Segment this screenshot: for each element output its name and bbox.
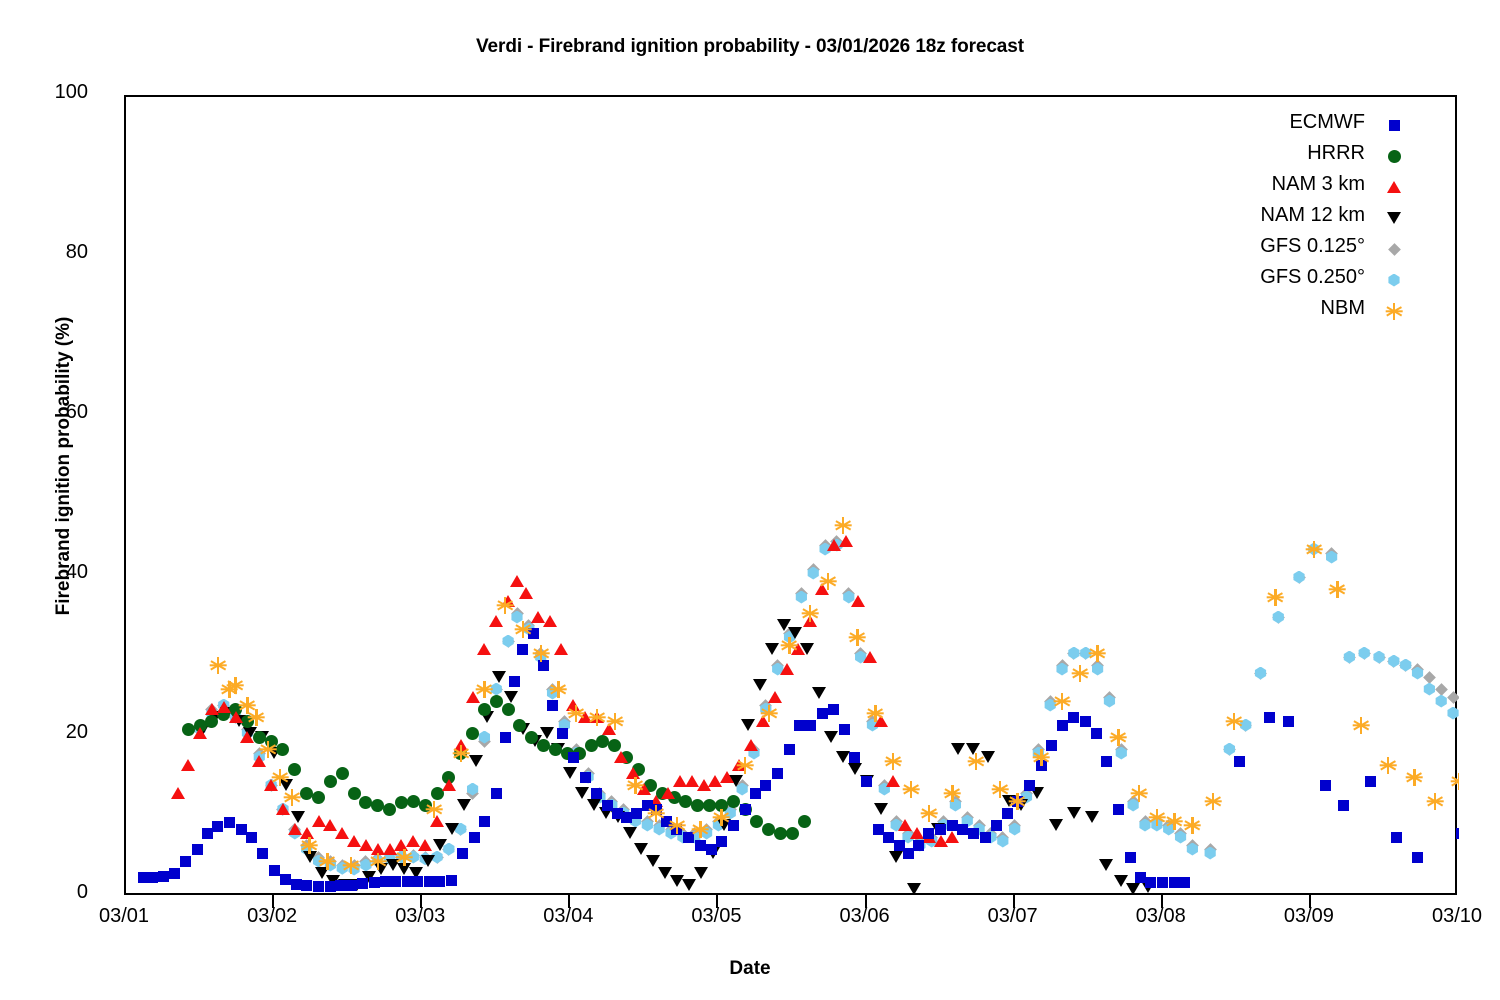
data-point <box>1184 817 1201 834</box>
data-point <box>692 821 709 838</box>
legend-marker-star-icon <box>1386 303 1402 319</box>
data-point <box>668 817 685 834</box>
legend-item-nbm[interactable]: NBM <box>1150 294 1410 325</box>
data-point <box>283 789 300 806</box>
legend-label: ECMWF <box>1155 108 1365 136</box>
chart-legend: ECMWFHRRRNAM 3 kmNAM 12 kmGFS 0.125°GFS … <box>1150 108 1410 325</box>
data-point <box>588 709 605 726</box>
x-axis-tick-label: 03/09 <box>1249 905 1369 928</box>
data-point <box>1379 757 1396 774</box>
x-axis-tick-label: 03/07 <box>953 905 1073 928</box>
legend-label: GFS 0.250° <box>1155 263 1365 291</box>
data-point <box>1071 665 1088 682</box>
legend-marker-square-icon <box>1386 117 1402 133</box>
data-point <box>1406 769 1423 786</box>
data-point <box>301 837 318 854</box>
legend-item-ecmwf[interactable]: ECMWF <box>1150 108 1410 139</box>
y-axis-tick-label: 100 <box>28 81 88 104</box>
legend-marker-triangle-down-icon <box>1386 210 1402 226</box>
legend-item-gfs-0-125[interactable]: GFS 0.125° <box>1150 232 1410 263</box>
data-point <box>802 605 819 622</box>
data-point <box>568 705 585 722</box>
y-axis-tick-label: 40 <box>28 561 88 584</box>
x-axis-tick-label: 03/05 <box>656 905 776 928</box>
legend-item-hrrr[interactable]: HRRR <box>1150 139 1410 170</box>
data-point <box>396 849 413 866</box>
data-point <box>1089 645 1106 662</box>
x-axis-label: Date <box>0 958 1500 980</box>
chart-page: Verdi - Firebrand ignition probability -… <box>0 0 1500 1000</box>
legend-marker-triangle-up-icon <box>1386 179 1402 195</box>
data-point <box>1131 785 1148 802</box>
y-axis-tick-label: 60 <box>28 401 88 424</box>
legend-label: NAM 12 km <box>1155 201 1365 229</box>
data-point <box>1451 773 1460 790</box>
data-point <box>1054 693 1071 710</box>
data-point <box>1353 717 1370 734</box>
legend-label: NBM <box>1155 294 1365 322</box>
data-point <box>991 781 1008 798</box>
y-axis-tick-label: 80 <box>28 241 88 264</box>
legend-marker-hexagon-icon <box>1386 272 1402 288</box>
data-point <box>867 705 884 722</box>
data-point <box>369 853 386 870</box>
data-point <box>1148 809 1165 826</box>
data-point <box>319 853 336 870</box>
legend-item-nam-12-km[interactable]: NAM 12 km <box>1150 201 1410 232</box>
legend-label: HRRR <box>1155 139 1365 167</box>
x-axis-tick-label: 03/06 <box>805 905 925 928</box>
data-point <box>920 805 937 822</box>
data-point <box>426 801 443 818</box>
data-point <box>272 769 289 786</box>
data-point <box>1427 793 1444 810</box>
y-axis-tick-label: 20 <box>28 721 88 744</box>
data-point <box>1305 541 1322 558</box>
x-axis-tick-label: 03/03 <box>360 905 480 928</box>
chart-title: Verdi - Firebrand ignition probability -… <box>0 36 1500 58</box>
data-point <box>1166 813 1183 830</box>
data-point <box>260 741 277 758</box>
data-point <box>209 657 226 674</box>
legend-item-nam-3-km[interactable]: NAM 3 km <box>1150 170 1410 201</box>
data-point <box>550 681 567 698</box>
x-axis-tick-label: 03/04 <box>508 905 628 928</box>
y-axis-label: Firebrand ignition probability (%) <box>53 216 75 716</box>
data-point <box>648 805 665 822</box>
data-point <box>760 705 777 722</box>
data-point <box>885 753 902 770</box>
data-point <box>820 573 837 590</box>
y-axis-tick-label: 0 <box>28 881 88 904</box>
data-point <box>1110 729 1127 746</box>
data-point <box>1009 793 1026 810</box>
legend-label: NAM 3 km <box>1155 170 1365 198</box>
data-point <box>737 757 754 774</box>
data-point <box>1225 713 1242 730</box>
data-point <box>248 709 265 726</box>
data-point <box>1205 793 1222 810</box>
data-point <box>968 753 985 770</box>
data-point <box>476 681 493 698</box>
data-point <box>497 597 514 614</box>
data-point <box>902 781 919 798</box>
data-point <box>627 777 644 794</box>
data-point <box>944 785 961 802</box>
legend-marker-circle-icon <box>1386 148 1402 164</box>
legend-label: GFS 0.125° <box>1155 232 1365 260</box>
data-point <box>1033 749 1050 766</box>
data-point <box>781 637 798 654</box>
x-axis-tick-label: 03/02 <box>212 905 332 928</box>
data-point <box>532 645 549 662</box>
data-point <box>834 517 851 534</box>
data-point <box>1329 581 1346 598</box>
data-point <box>849 629 866 646</box>
data-point <box>343 857 360 874</box>
x-axis-tick-label: 03/01 <box>64 905 184 928</box>
data-point <box>452 745 469 762</box>
data-point <box>606 713 623 730</box>
data-point <box>713 809 730 826</box>
data-point <box>1267 589 1284 606</box>
data-point <box>227 677 244 694</box>
legend-marker-diamond-icon <box>1386 241 1402 257</box>
data-point <box>514 621 531 638</box>
legend-item-gfs-0-250[interactable]: GFS 0.250° <box>1150 263 1410 294</box>
x-axis-tick-label: 03/10 <box>1397 905 1500 928</box>
x-axis-tick-label: 03/08 <box>1101 905 1221 928</box>
